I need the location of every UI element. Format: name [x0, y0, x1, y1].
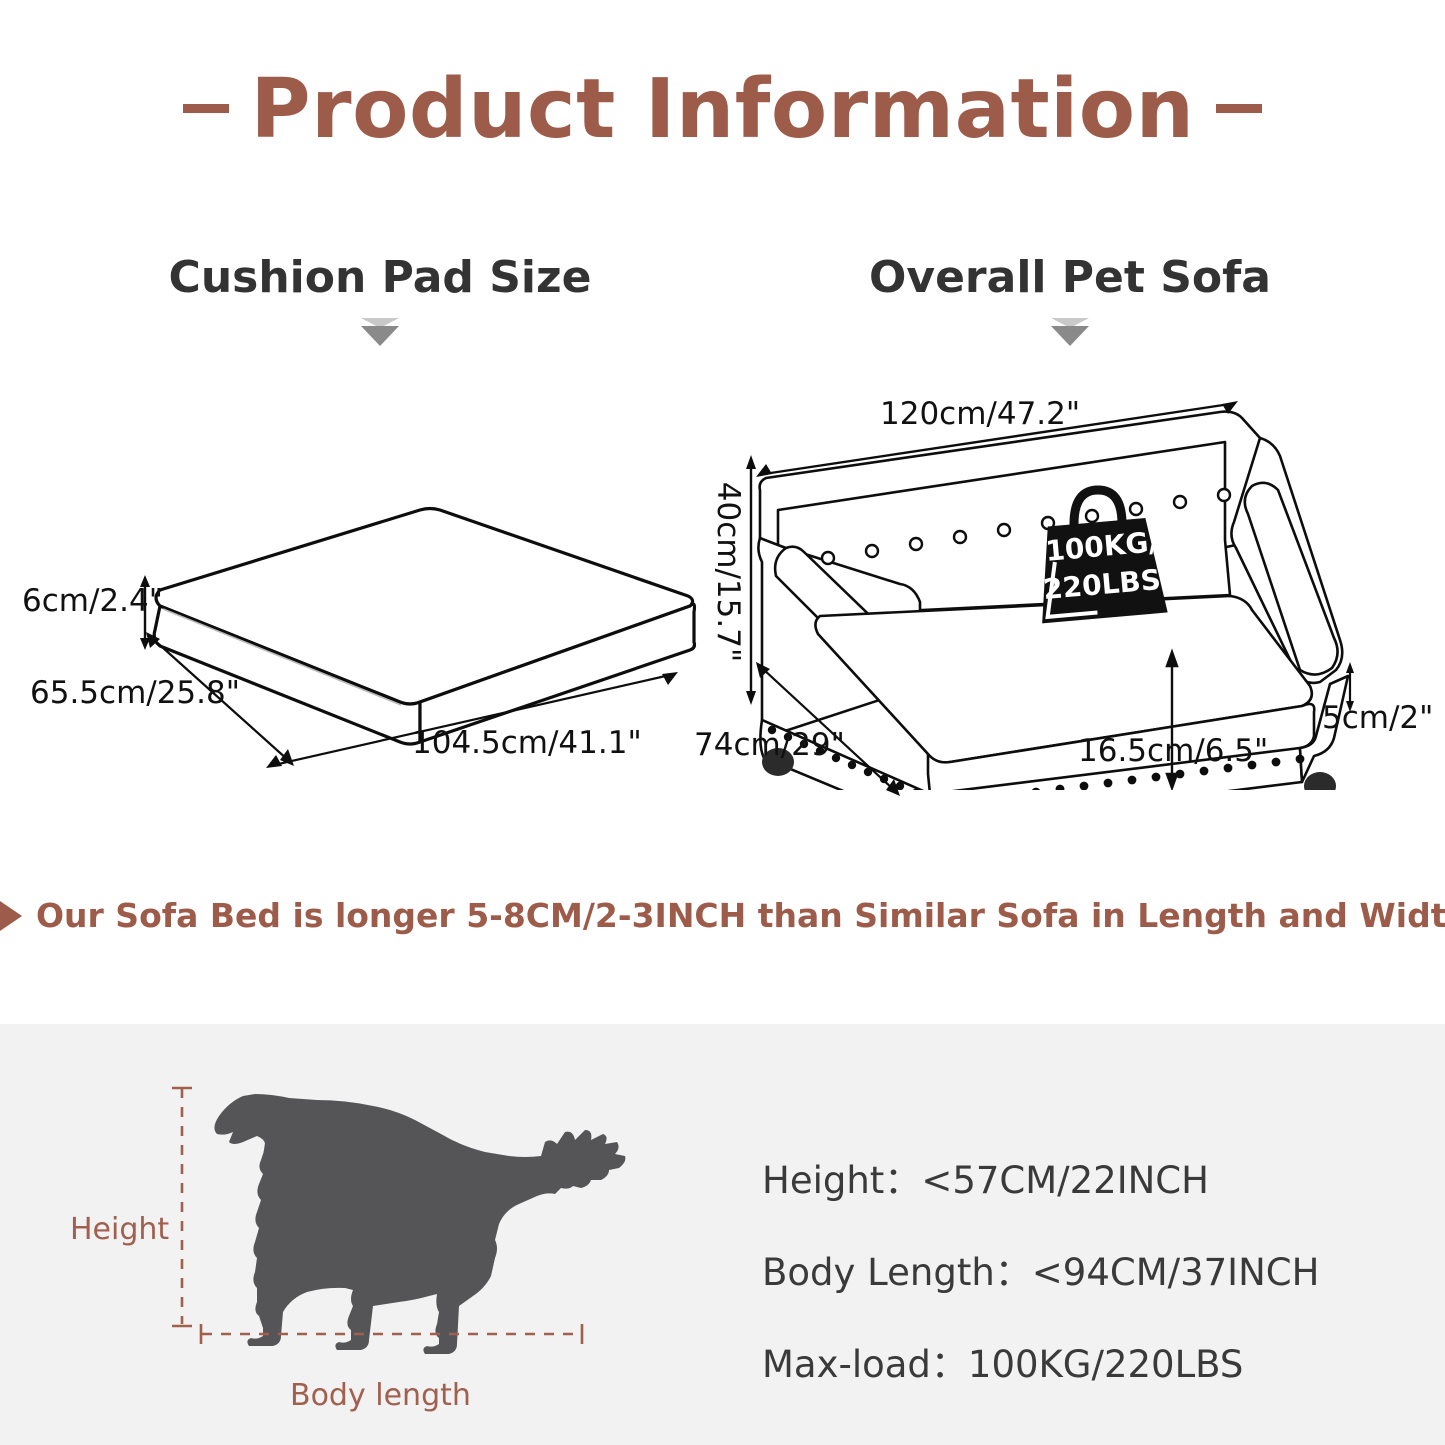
cushion-length-label: 104.5cm/41.1": [412, 725, 642, 761]
spec-value-height: <57CM/22INCH: [921, 1159, 1209, 1202]
spec-key-body-length: Body Length：: [762, 1251, 1032, 1294]
cushion-section-heading: Cushion Pad Size: [120, 252, 640, 303]
top-panel: Product Information Cushion Pad Size Ove…: [0, 0, 1445, 1024]
spec-key-max-load: Max-load：: [762, 1343, 968, 1386]
title-dash-left: [183, 104, 229, 113]
spec-key-height: Height：: [762, 1159, 921, 1202]
max-load-weight-badge: 100KG/ 220LBS: [1022, 478, 1182, 628]
dog-height-measure-line: [170, 1084, 194, 1332]
spec-row-height: Height：<57CM/22INCH: [762, 1150, 1422, 1204]
dog-height-label: Height: [70, 1212, 169, 1247]
play-triangle-icon: [0, 901, 22, 931]
spec-value-max-load: 100KG/220LBS: [968, 1343, 1243, 1386]
page-title-text: Product Information: [251, 62, 1195, 157]
dog-body-length-label: Body length: [290, 1378, 471, 1413]
tagline-banner: Our Sofa Bed is longer 5-8CM/2-3INCH tha…: [0, 896, 1445, 935]
title-dash-right: [1216, 104, 1262, 113]
sofa-depth-label: 74cm/29": [694, 727, 845, 763]
spec-list: Height：<57CM/22INCH Body Length：<94CM/37…: [762, 1150, 1422, 1426]
cushion-thickness-label: 6cm/2.4": [22, 583, 163, 619]
sofa-seat-height-label: 16.5cm/6.5": [1078, 733, 1268, 769]
spec-row-body-length: Body Length：<94CM/37INCH: [762, 1242, 1422, 1296]
tagline-text: Our Sofa Bed is longer 5-8CM/2-3INCH tha…: [36, 896, 1445, 935]
triangle-lower: [1051, 326, 1089, 346]
triangle-lower: [361, 326, 399, 346]
sofa-width-label: 120cm/47.2": [880, 396, 1080, 432]
sofa-leg-height-label: 5cm/2": [1322, 700, 1433, 736]
spec-row-max-load: Max-load：100KG/220LBS: [762, 1334, 1422, 1388]
page-title: Product Information: [0, 62, 1445, 157]
sofa-section-heading: Overall Pet Sofa: [820, 252, 1320, 303]
chevron-down-icon-cushion: [358, 318, 402, 348]
spec-value-body-length: <94CM/37INCH: [1032, 1251, 1320, 1294]
cushion-depth-label: 65.5cm/25.8": [30, 675, 240, 711]
product-information-infographic: Product Information Cushion Pad Size Ove…: [0, 0, 1445, 1445]
dog-body-length-measure-line: [196, 1322, 588, 1346]
sofa-height-label: 40cm/15.7": [710, 482, 746, 662]
chevron-down-icon-sofa: [1048, 318, 1092, 348]
